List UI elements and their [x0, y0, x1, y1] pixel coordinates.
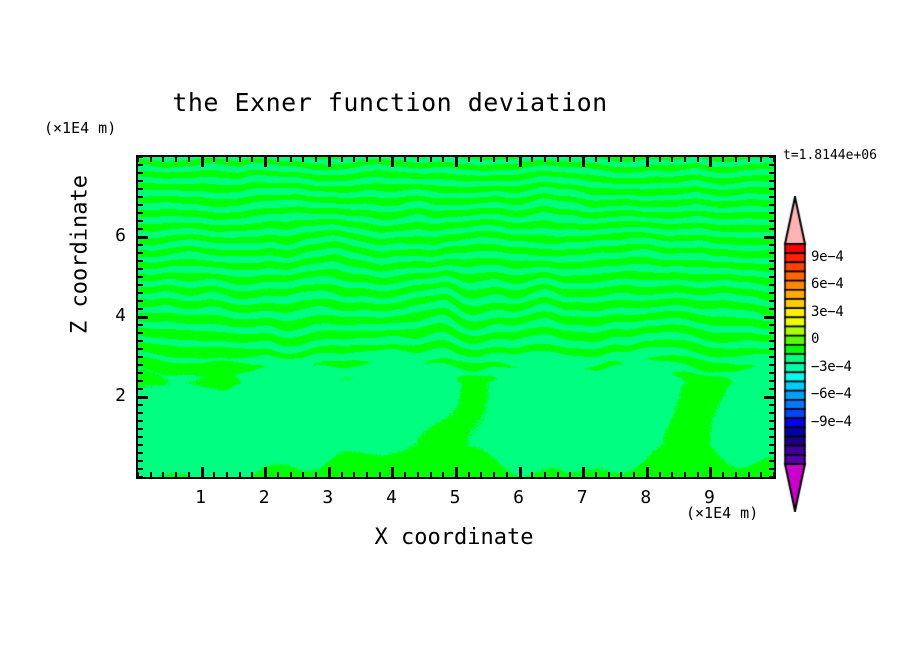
- x-major-tick: [201, 467, 204, 477]
- x-minor-tick: [697, 472, 699, 477]
- y-minor-tick: [138, 452, 143, 454]
- page-title: the Exner function deviation: [0, 88, 780, 117]
- y-minor-tick-right: [769, 276, 774, 278]
- x-minor-tick: [315, 472, 317, 477]
- y-minor-tick-right: [769, 340, 774, 342]
- contour-field-canvas: [138, 157, 774, 477]
- x-minor-tick: [684, 472, 686, 477]
- x-minor-tick: [608, 472, 610, 477]
- y-minor-tick: [138, 276, 143, 278]
- x-tick-label: 6: [504, 487, 534, 508]
- y-minor-tick: [138, 196, 143, 198]
- x-minor-tick-top: [608, 157, 610, 162]
- x-minor-tick-top: [442, 157, 444, 162]
- x-minor-tick: [569, 472, 571, 477]
- x-minor-tick: [226, 472, 228, 477]
- x-major-tick-top: [264, 157, 267, 167]
- x-major-tick: [328, 467, 331, 477]
- y-axis-title: Z coordinate: [68, 140, 93, 370]
- x-tick-label: 7: [567, 487, 597, 508]
- x-minor-tick: [735, 472, 737, 477]
- x-major-tick: [519, 467, 522, 477]
- x-minor-tick-top: [417, 157, 419, 162]
- x-minor-tick: [671, 472, 673, 477]
- y-minor-tick-right: [769, 196, 774, 198]
- x-major-tick: [646, 467, 649, 477]
- x-tick-label: 9: [694, 487, 724, 508]
- y-minor-tick-right: [769, 460, 774, 462]
- x-minor-tick: [417, 472, 419, 477]
- x-minor-tick-top: [302, 157, 304, 162]
- y-minor-tick-right: [769, 308, 774, 310]
- y-minor-tick-right: [769, 452, 774, 454]
- x-minor-tick-top: [595, 157, 597, 162]
- x-minor-tick: [290, 472, 292, 477]
- y-minor-tick: [138, 404, 143, 406]
- x-major-tick: [709, 467, 712, 477]
- x-minor-tick-top: [404, 157, 406, 162]
- x-minor-tick: [468, 472, 470, 477]
- y-minor-tick-right: [769, 204, 774, 206]
- y-minor-tick-right: [769, 372, 774, 374]
- y-major-tick: [138, 396, 148, 399]
- x-minor-tick-top: [480, 157, 482, 162]
- y-minor-tick-right: [769, 284, 774, 286]
- y-minor-tick: [138, 252, 143, 254]
- x-minor-tick-top: [239, 157, 241, 162]
- x-minor-tick-top: [697, 157, 699, 162]
- x-major-tick-top: [646, 157, 649, 167]
- colorbar-tick-label: 9e−4: [811, 249, 844, 265]
- y-minor-tick-right: [769, 172, 774, 174]
- y-minor-tick-right: [769, 412, 774, 414]
- y-minor-tick-right: [769, 188, 774, 190]
- x-minor-tick: [557, 472, 559, 477]
- x-minor-tick-top: [659, 157, 661, 162]
- y-minor-tick: [138, 468, 143, 470]
- y-minor-tick-right: [769, 260, 774, 262]
- x-minor-tick: [150, 472, 152, 477]
- y-minor-tick: [138, 324, 143, 326]
- y-minor-tick: [138, 244, 143, 246]
- x-major-tick: [455, 467, 458, 477]
- timestamp-label: t=1.8144e+06: [783, 148, 877, 163]
- x-minor-tick-top: [188, 157, 190, 162]
- y-minor-tick: [138, 212, 143, 214]
- y-tick-label: 2: [100, 385, 126, 406]
- colorbar-tick-label: −9e−4: [811, 414, 852, 430]
- colorbar-tick-label: −3e−4: [811, 359, 852, 375]
- x-minor-tick: [277, 472, 279, 477]
- x-minor-tick: [659, 472, 661, 477]
- colorbar-tick-label: 6e−4: [811, 276, 844, 292]
- x-tick-label: 8: [631, 487, 661, 508]
- x-minor-tick-top: [277, 157, 279, 162]
- x-minor-tick: [531, 472, 533, 477]
- x-minor-tick-top: [341, 157, 343, 162]
- y-minor-tick: [138, 188, 143, 190]
- y-minor-tick: [138, 172, 143, 174]
- y-major-tick-right: [764, 396, 774, 399]
- x-major-tick-top: [328, 157, 331, 167]
- x-minor-tick-top: [760, 157, 762, 162]
- y-minor-tick: [138, 436, 143, 438]
- x-minor-tick-top: [379, 157, 381, 162]
- x-minor-tick: [404, 472, 406, 477]
- x-major-tick-top: [582, 157, 585, 167]
- x-minor-tick-top: [569, 157, 571, 162]
- y-minor-tick: [138, 388, 143, 390]
- x-minor-tick: [748, 472, 750, 477]
- contour-plot-figure: the Exner function deviation (×1E4 m) (×…: [0, 0, 904, 654]
- y-minor-tick-right: [769, 348, 774, 350]
- y-minor-tick-right: [769, 428, 774, 430]
- x-minor-tick: [595, 472, 597, 477]
- x-major-tick-top: [519, 157, 522, 167]
- y-minor-tick-right: [769, 364, 774, 366]
- x-minor-tick: [341, 472, 343, 477]
- x-minor-tick-top: [671, 157, 673, 162]
- y-minor-tick-right: [769, 300, 774, 302]
- colorbar-tick-label: 0: [811, 331, 819, 347]
- y-minor-tick-right: [769, 468, 774, 470]
- x-minor-tick-top: [684, 157, 686, 162]
- x-minor-tick: [366, 472, 368, 477]
- y-minor-tick: [138, 228, 143, 230]
- colorbar-tick-label: 3e−4: [811, 304, 844, 320]
- y-minor-tick: [138, 420, 143, 422]
- y-minor-tick-right: [769, 220, 774, 222]
- x-minor-tick-top: [506, 157, 508, 162]
- x-major-tick: [582, 467, 585, 477]
- y-minor-tick: [138, 348, 143, 350]
- x-minor-tick-top: [251, 157, 253, 162]
- y-minor-tick-right: [769, 476, 774, 478]
- y-tick-label: 6: [100, 225, 126, 246]
- y-minor-tick: [138, 412, 143, 414]
- y-minor-tick-right: [769, 180, 774, 182]
- x-tick-label: 3: [313, 487, 343, 508]
- x-minor-tick: [213, 472, 215, 477]
- x-minor-tick-top: [493, 157, 495, 162]
- y-minor-tick-right: [769, 228, 774, 230]
- y-minor-tick-right: [769, 164, 774, 166]
- x-minor-tick-top: [620, 157, 622, 162]
- y-minor-tick: [138, 364, 143, 366]
- x-minor-tick: [506, 472, 508, 477]
- y-minor-tick: [138, 164, 143, 166]
- x-major-tick-top: [201, 157, 204, 167]
- x-minor-tick: [353, 472, 355, 477]
- y-minor-tick-right: [769, 332, 774, 334]
- x-minor-tick: [188, 472, 190, 477]
- x-minor-tick-top: [531, 157, 533, 162]
- x-major-tick-top: [391, 157, 394, 167]
- y-minor-tick-right: [769, 404, 774, 406]
- x-minor-tick: [302, 472, 304, 477]
- plot-area: [136, 155, 776, 479]
- y-minor-tick: [138, 180, 143, 182]
- x-minor-tick-top: [557, 157, 559, 162]
- y-minor-tick: [138, 460, 143, 462]
- y-minor-tick: [138, 292, 143, 294]
- x-tick-label: 1: [186, 487, 216, 508]
- x-minor-tick-top: [213, 157, 215, 162]
- y-minor-tick: [138, 476, 143, 478]
- x-minor-tick-top: [290, 157, 292, 162]
- y-minor-tick: [138, 300, 143, 302]
- x-major-tick: [264, 467, 267, 477]
- y-minor-tick: [138, 428, 143, 430]
- x-minor-tick-top: [162, 157, 164, 162]
- x-minor-tick: [162, 472, 164, 477]
- y-minor-tick: [138, 372, 143, 374]
- x-minor-tick: [175, 472, 177, 477]
- x-tick-label: 5: [440, 487, 470, 508]
- x-minor-tick: [493, 472, 495, 477]
- y-minor-tick: [138, 380, 143, 382]
- x-minor-tick: [620, 472, 622, 477]
- y-minor-tick-right: [769, 292, 774, 294]
- x-minor-tick: [251, 472, 253, 477]
- y-major-tick: [138, 236, 148, 239]
- y-minor-tick: [138, 204, 143, 206]
- y-minor-tick-right: [769, 252, 774, 254]
- x-minor-tick: [379, 472, 381, 477]
- y-minor-tick-right: [769, 244, 774, 246]
- x-minor-tick-top: [544, 157, 546, 162]
- y-minor-tick: [138, 308, 143, 310]
- x-minor-tick: [633, 472, 635, 477]
- y-tick-label: 4: [100, 305, 126, 326]
- x-minor-tick-top: [150, 157, 152, 162]
- y-minor-tick: [138, 220, 143, 222]
- x-minor-tick-top: [315, 157, 317, 162]
- x-minor-tick: [430, 472, 432, 477]
- x-minor-tick: [760, 472, 762, 477]
- x-minor-tick: [239, 472, 241, 477]
- x-minor-tick-top: [468, 157, 470, 162]
- y-minor-tick-right: [769, 444, 774, 446]
- x-tick-label: 4: [376, 487, 406, 508]
- x-minor-tick: [544, 472, 546, 477]
- y-minor-tick: [138, 356, 143, 358]
- x-minor-tick-top: [633, 157, 635, 162]
- y-minor-tick: [138, 260, 143, 262]
- z-axis-unit-label: (×1E4 m): [44, 119, 116, 137]
- y-minor-tick-right: [769, 212, 774, 214]
- x-major-tick-top: [709, 157, 712, 167]
- y-minor-tick-right: [769, 388, 774, 390]
- x-tick-label: 2: [249, 487, 279, 508]
- x-minor-tick: [442, 472, 444, 477]
- y-major-tick-right: [764, 316, 774, 319]
- colorbar: [783, 196, 807, 512]
- x-minor-tick-top: [226, 157, 228, 162]
- y-minor-tick-right: [769, 324, 774, 326]
- y-minor-tick-right: [769, 380, 774, 382]
- y-minor-tick-right: [769, 356, 774, 358]
- x-minor-tick-top: [735, 157, 737, 162]
- y-major-tick: [138, 316, 148, 319]
- x-minor-tick: [480, 472, 482, 477]
- y-minor-tick-right: [769, 156, 774, 158]
- x-minor-tick-top: [430, 157, 432, 162]
- x-minor-tick-top: [353, 157, 355, 162]
- x-minor-tick: [722, 472, 724, 477]
- y-minor-tick: [138, 156, 143, 158]
- y-minor-tick: [138, 284, 143, 286]
- x-minor-tick-top: [366, 157, 368, 162]
- y-minor-tick-right: [769, 268, 774, 270]
- y-major-tick-right: [764, 236, 774, 239]
- x-axis-title: X coordinate: [136, 525, 772, 550]
- x-major-tick: [391, 467, 394, 477]
- y-minor-tick-right: [769, 420, 774, 422]
- y-minor-tick-right: [769, 436, 774, 438]
- x-minor-tick-top: [722, 157, 724, 162]
- colorbar-tick-label: −6e−4: [811, 386, 852, 402]
- x-major-tick-top: [455, 157, 458, 167]
- y-minor-tick: [138, 332, 143, 334]
- y-minor-tick: [138, 340, 143, 342]
- y-minor-tick: [138, 268, 143, 270]
- y-minor-tick: [138, 444, 143, 446]
- x-minor-tick-top: [175, 157, 177, 162]
- x-minor-tick-top: [748, 157, 750, 162]
